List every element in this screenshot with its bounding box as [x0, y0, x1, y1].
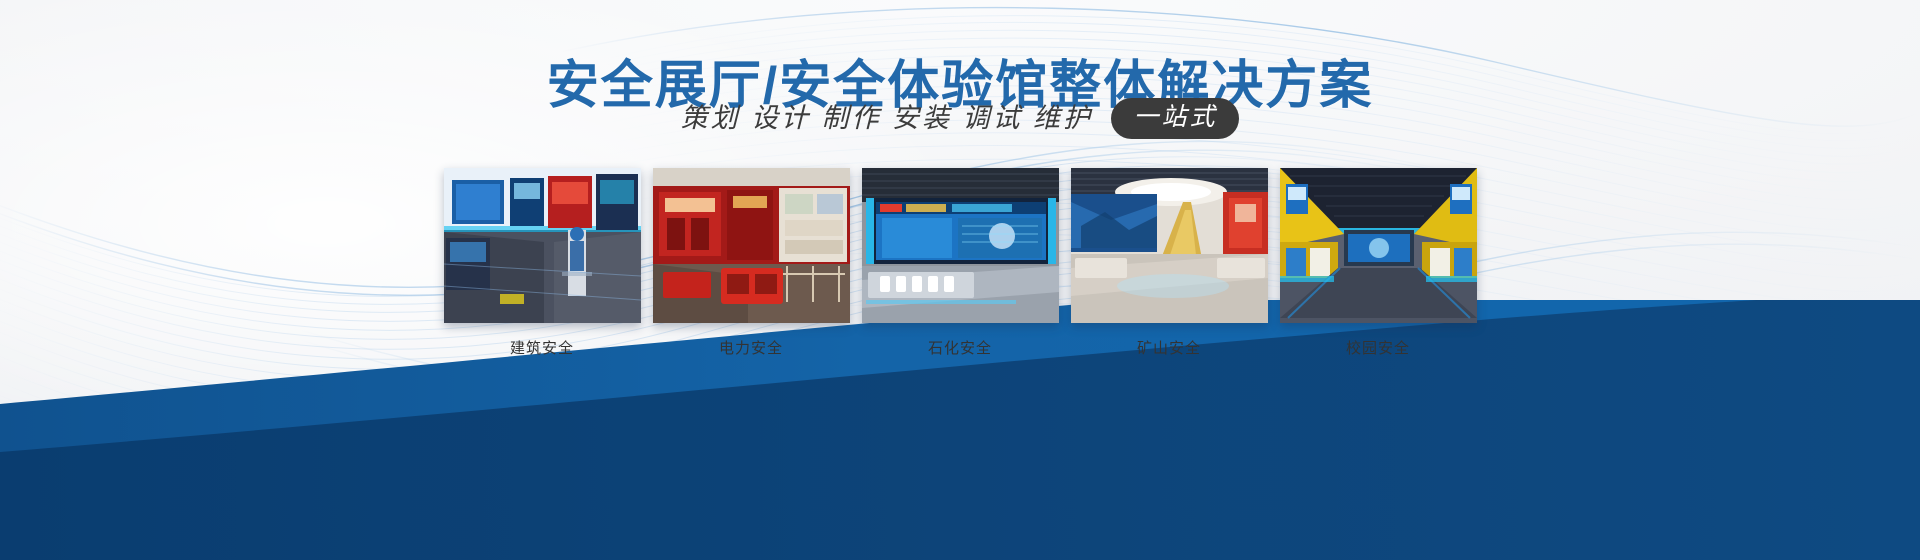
safety-exhibition-banner: 安全展厅/安全体验馆整体解决方案 策划 设计 制作 安装 调试 维护 一站式: [0, 0, 1920, 560]
campus-hall-illustration: [1280, 168, 1477, 323]
gallery-caption: 石化安全: [928, 337, 992, 358]
construction-hall-illustration: [444, 168, 641, 323]
banner-content: 安全展厅/安全体验馆整体解决方案 策划 设计 制作 安装 调试 维护 一站式: [0, 0, 1920, 560]
gallery-item[interactable]: 建筑安全: [444, 168, 641, 358]
mining-safety-thumbnail[interactable]: [1071, 168, 1268, 323]
construction-safety-thumbnail[interactable]: [444, 168, 641, 323]
gallery-item[interactable]: 电力安全: [653, 168, 850, 358]
gallery-caption: 校园安全: [1346, 337, 1410, 358]
petrochemical-safety-thumbnail[interactable]: [862, 168, 1059, 323]
gallery-item[interactable]: 石化安全: [862, 168, 1059, 358]
gallery-caption: 电力安全: [719, 337, 783, 358]
power-hall-illustration: [653, 168, 850, 323]
petrochemical-hall-illustration: [862, 168, 1059, 323]
gallery-caption: 建筑安全: [510, 337, 574, 358]
gallery-item[interactable]: 矿山安全: [1071, 168, 1268, 358]
subtitle-row: 策划 设计 制作 安装 调试 维护 一站式: [0, 98, 1920, 139]
gallery-item[interactable]: 校园安全: [1280, 168, 1477, 358]
exhibition-gallery: 建筑安全: [0, 168, 1920, 358]
service-steps-label: 策划 设计 制作 安装 调试 维护: [681, 105, 1094, 132]
campus-safety-thumbnail[interactable]: [1280, 168, 1477, 323]
one-stop-badge: 一站式: [1111, 98, 1239, 139]
electric-power-safety-thumbnail[interactable]: [653, 168, 850, 323]
mining-hall-illustration: [1071, 168, 1268, 323]
gallery-caption: 矿山安全: [1137, 337, 1201, 358]
